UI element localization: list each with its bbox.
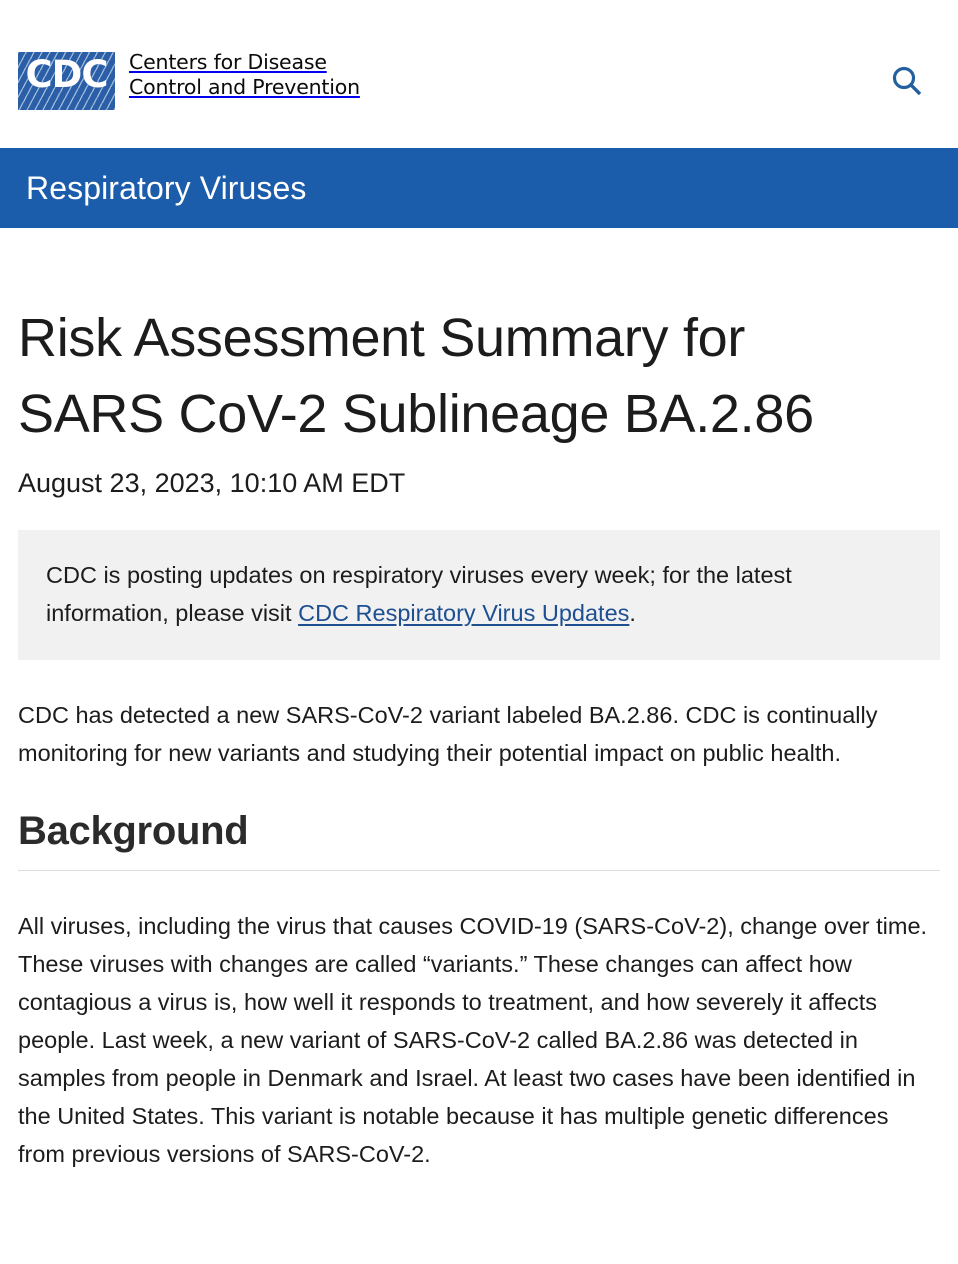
update-callout: CDC is posting updates on respiratory vi… <box>18 530 940 660</box>
intro-paragraph: CDC has detected a new SARS-CoV-2 varian… <box>18 696 940 772</box>
section-heading-background: Background <box>18 806 940 856</box>
cdc-logo-letters: CDC <box>18 55 115 95</box>
section-banner: Respiratory Viruses <box>0 148 958 228</box>
section-heading-rule <box>18 870 940 871</box>
page-title: Risk Assessment Summary for SARS CoV-2 S… <box>18 228 878 452</box>
cdc-logo-link[interactable]: CDC Centers for Disease Control and Prev… <box>18 52 360 110</box>
callout-text-after-link: . <box>629 600 636 626</box>
update-callout-text: CDC is posting updates on respiratory vi… <box>46 556 912 632</box>
cdc-logo-mark: CDC <box>18 52 115 110</box>
section-paragraph-background: All viruses, including the virus that ca… <box>18 907 940 1173</box>
cdc-logo-tagline: Centers for Disease Control and Preventi… <box>129 50 360 100</box>
cdc-respiratory-virus-updates-link[interactable]: CDC Respiratory Virus Updates <box>298 600 629 626</box>
site-header: CDC Centers for Disease Control and Prev… <box>0 0 958 148</box>
page-date: August 23, 2023, 10:10 AM EDT <box>18 466 940 500</box>
search-icon <box>890 64 924 98</box>
search-button[interactable] <box>882 56 932 106</box>
main-content: Risk Assessment Summary for SARS CoV-2 S… <box>0 228 958 1173</box>
section-banner-title: Respiratory Viruses <box>26 170 307 207</box>
